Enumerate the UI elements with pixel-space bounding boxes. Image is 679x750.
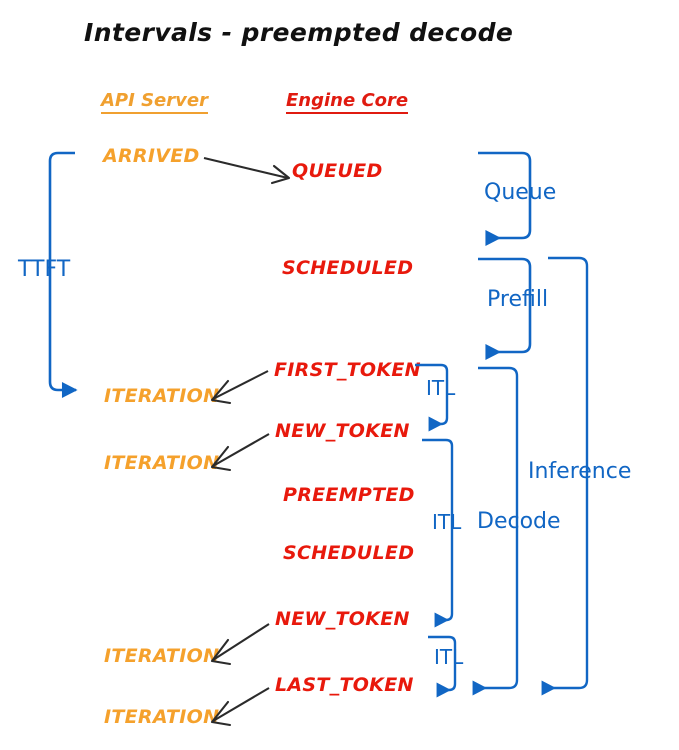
event-iteration-2: ITERATION	[104, 452, 219, 474]
event-queued: QUEUED	[292, 160, 383, 182]
page-title: Intervals - preempted decode	[84, 18, 513, 47]
arrow-new-token-1-to-iteration-2	[212, 434, 269, 470]
column-header-engine-core: Engine Core	[286, 90, 408, 114]
interval-label-prefill: Prefill	[487, 287, 548, 312]
interval-label-ttft: TTFT	[18, 257, 70, 282]
event-iteration-4: ITERATION	[104, 706, 219, 728]
event-scheduled-1: SCHEDULED	[282, 257, 413, 279]
diagram-canvas: Intervals - preempted decode API Server …	[0, 0, 679, 750]
event-iteration-1: ITERATION	[104, 385, 219, 407]
event-first-token: FIRST_TOKEN	[274, 359, 421, 381]
interval-label-itl-2: ITL	[434, 645, 463, 669]
arrow-last-token-to-iteration-4	[212, 688, 269, 725]
event-iteration-3: ITERATION	[104, 645, 219, 667]
arrow-new-token-2-to-iteration-3	[212, 624, 269, 664]
event-last-token: LAST_TOKEN	[275, 674, 414, 696]
interval-label-itl-decode: ITL	[432, 510, 461, 534]
interval-label-inference: Inference	[528, 459, 631, 484]
arrow-arrived-to-queued	[204, 158, 289, 183]
event-preempted: PREEMPTED	[283, 484, 415, 506]
interval-label-decode: Decode	[477, 509, 561, 534]
column-header-api-server: API Server	[101, 90, 208, 114]
event-new-token-1: NEW_TOKEN	[275, 420, 410, 442]
interval-label-itl-1: ITL	[426, 376, 455, 400]
event-new-token-2: NEW_TOKEN	[275, 608, 410, 630]
event-arrived: ARRIVED	[103, 145, 200, 167]
event-scheduled-2: SCHEDULED	[283, 542, 414, 564]
interval-label-queue: Queue	[484, 180, 556, 205]
arrow-first-token-to-iteration-1	[212, 371, 268, 403]
